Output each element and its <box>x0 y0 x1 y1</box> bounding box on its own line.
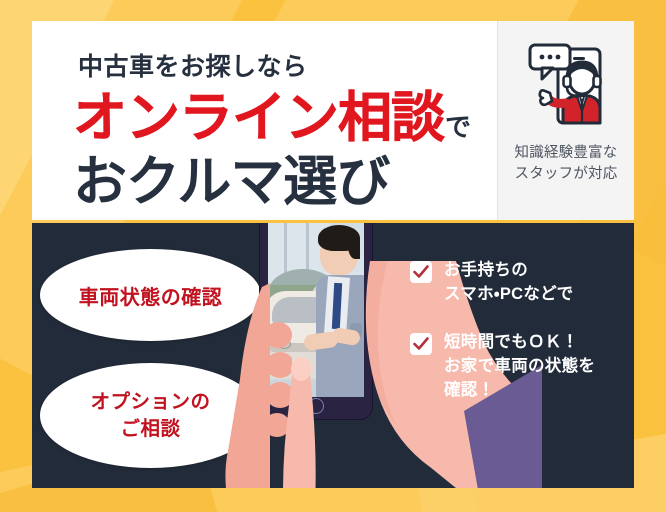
checklist-item: お手持ちの スマホ・PCなどで <box>410 259 628 307</box>
bubble-label-line2: ご相談 <box>120 416 180 442</box>
bubble-label-line1: オプションの <box>90 389 210 415</box>
headline-kicker: 中古車をお探しなら <box>78 55 308 80</box>
headline-card: 中古車をお探しなら オンライン相談 で おクルマ選び <box>32 21 634 220</box>
staff-caption-line1: 知識経験豊富な <box>515 143 618 164</box>
checklist-item: 短時間でもＯＫ！ お家で車両の状態を 確認！ <box>410 331 628 403</box>
staff-support-panel: 知識経験豊富な スタッフが対応 <box>497 21 634 220</box>
headline-particle: で <box>445 114 471 140</box>
photo-salesman-hair <box>348 237 360 259</box>
checklist-item-text: 短時間でもＯＫ！ お家で車両の状態を 確認！ <box>444 331 595 403</box>
headline-zone: 中古車をお探しなら オンライン相談 で おクルマ選び <box>32 21 497 220</box>
headline-second-line: おクルマ選び <box>73 155 389 209</box>
bubble-label: 車両状態の確認 <box>79 281 223 310</box>
checklist-item-text: お手持ちの スマホ・PCなどで <box>444 259 573 307</box>
headline-red-text: オンライン相談 <box>73 91 444 145</box>
online-consultation-banner: 中古車をお探しなら オンライン相談 で おクルマ選び <box>0 0 666 512</box>
headline-main-line: オンライン相談 で <box>73 91 471 145</box>
staff-caption-line2: スタッフが対応 <box>515 164 618 185</box>
checkbox-checked-icon <box>410 261 432 283</box>
operator-headset-on-screen-icon <box>520 37 612 137</box>
feature-checklist: お手持ちの スマホ・PCなどで 短時間でもＯＫ！ お家で車両の状態を 確認！ <box>410 259 628 427</box>
checkbox-checked-icon <box>410 333 432 355</box>
feature-panel: 車両状態の確認 オプションの ご相談 <box>32 223 634 488</box>
pointing-index-finger <box>279 353 323 488</box>
staff-caption: 知識経験豊富な スタッフが対応 <box>515 143 618 184</box>
